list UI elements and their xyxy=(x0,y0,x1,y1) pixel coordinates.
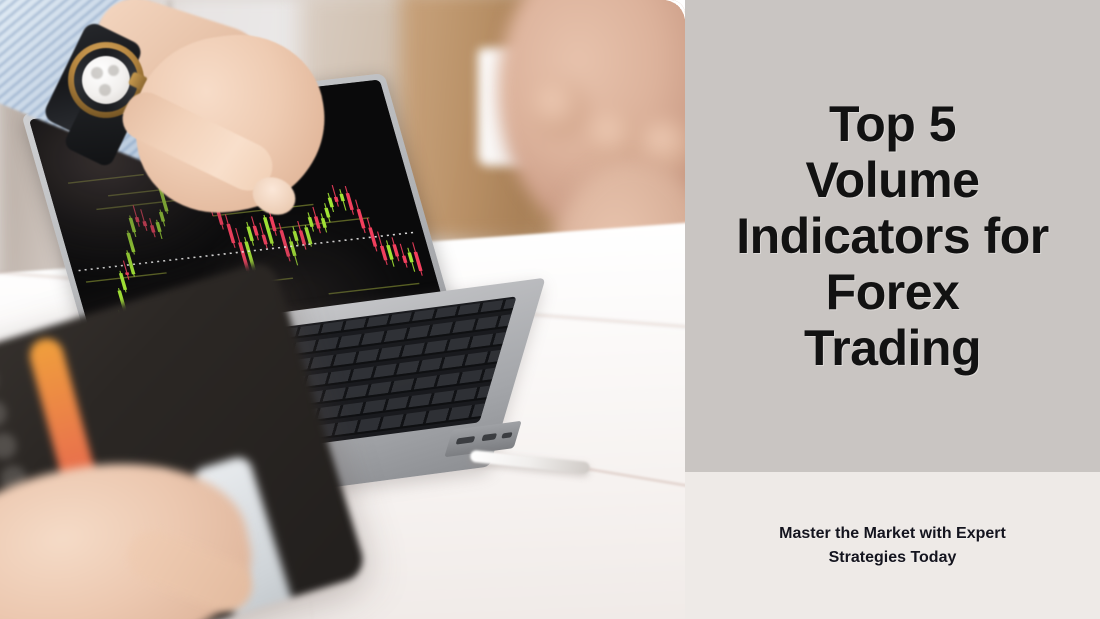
stylus-pen xyxy=(470,450,591,474)
subheadline-panel: Master the Market with Expert Strategies… xyxy=(685,472,1100,619)
hero-photo xyxy=(0,0,685,619)
headline-panel: Top 5 Volume Indicators for Forex Tradin… xyxy=(685,0,1100,472)
watch-dial xyxy=(82,56,130,104)
page-subtitle: Master the Market with Expert Strategies… xyxy=(728,522,1058,570)
photo-corner-mask xyxy=(663,0,685,22)
page-title: Top 5 Volume Indicators for Forex Tradin… xyxy=(685,96,1100,376)
banner-canvas: Top 5 Volume Indicators for Forex Tradin… xyxy=(0,0,1100,619)
